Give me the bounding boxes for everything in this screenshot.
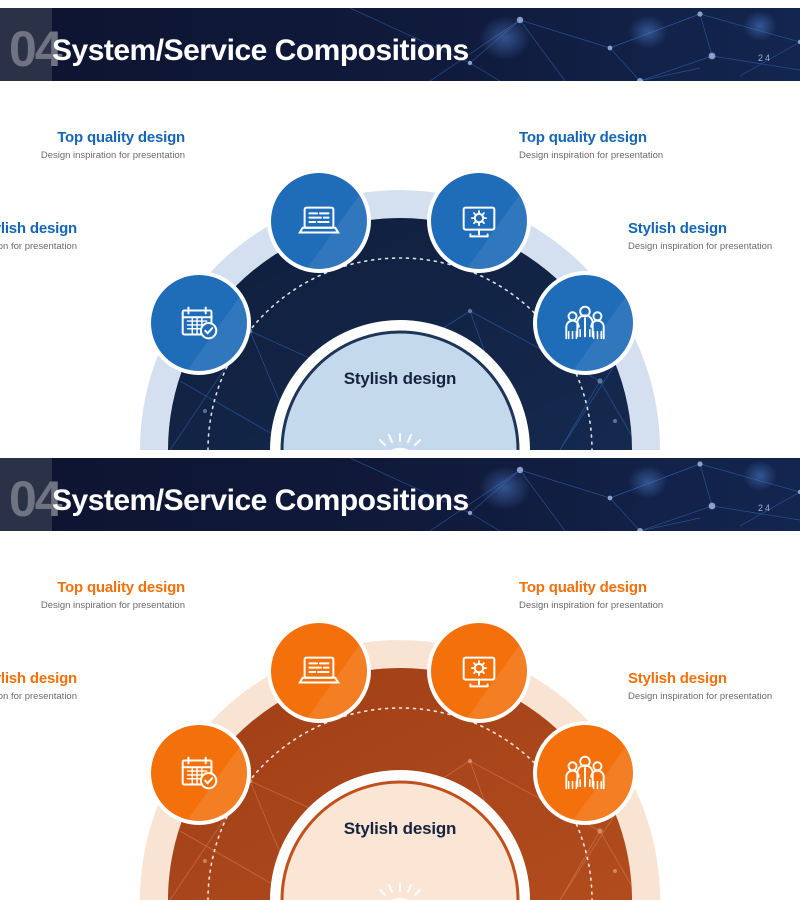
- slide-body-orange: Stylish design: [0, 531, 800, 900]
- node-people-group-orange[interactable]: [533, 721, 637, 825]
- people-group-icon: [562, 750, 608, 796]
- header-page-number: 24: [758, 53, 772, 63]
- header-page-number: 24: [758, 503, 772, 513]
- label-subtitle: Design inspiration for presentation: [519, 150, 724, 163]
- label-subtitle: Design inspiration for presentation: [628, 691, 800, 704]
- calendar-check-icon: [176, 750, 222, 796]
- label-title: Stylish design: [0, 670, 77, 687]
- label-middle-left-blue: Stylish design Design inspiration for pr…: [0, 220, 77, 254]
- slide-body-blue: Stylish design: [0, 81, 800, 450]
- label-subtitle: Design inspiration for presentation: [0, 241, 77, 254]
- label-subtitle: Design inspiration for presentation: [0, 600, 185, 613]
- node-calendar-check-orange[interactable]: [147, 721, 251, 825]
- label-top-right-orange: Top quality design Design inspiration fo…: [519, 579, 724, 613]
- label-top-right-blue: Top quality design Design inspiration fo…: [519, 129, 724, 163]
- label-middle-right-blue: Stylish design Design inspiration for pr…: [628, 220, 800, 254]
- laptop-code-icon: [296, 198, 342, 244]
- label-top-left-orange: Top quality design Design inspiration fo…: [0, 579, 185, 613]
- monitor-gear-icon: [456, 648, 502, 694]
- calendar-check-icon: [176, 300, 222, 346]
- people-group-icon: [562, 300, 608, 346]
- node-laptop-code-orange[interactable]: [267, 619, 371, 723]
- slide-header-blue: 04 System/Service Compositions 24: [0, 8, 800, 81]
- slide-orange: 04 System/Service Compositions 24: [0, 450, 800, 900]
- center-label-blue: Stylish design: [0, 369, 800, 389]
- label-subtitle: Design inspiration for presentation: [0, 691, 77, 704]
- label-title: Top quality design: [519, 129, 724, 146]
- label-subtitle: Design inspiration for presentation: [0, 150, 185, 163]
- label-title: Top quality design: [519, 579, 724, 596]
- label-title: Top quality design: [0, 129, 185, 146]
- node-monitor-gear-orange[interactable]: [427, 619, 531, 723]
- center-label-orange: Stylish design: [0, 819, 800, 839]
- label-middle-right-orange: Stylish design Design inspiration for pr…: [628, 670, 800, 704]
- slide-blue: 04 System/Service Compositions 24: [0, 0, 800, 450]
- node-laptop-code-blue[interactable]: [267, 169, 371, 273]
- label-title: Top quality design: [0, 579, 185, 596]
- node-monitor-gear-blue[interactable]: [427, 169, 531, 273]
- presentation-page: 04 System/Service Compositions 24: [0, 0, 800, 900]
- label-title: Stylish design: [0, 220, 77, 237]
- label-middle-left-orange: Stylish design Design inspiration for pr…: [0, 670, 77, 704]
- laptop-code-icon: [296, 648, 342, 694]
- header-title: System/Service Compositions: [52, 34, 469, 68]
- label-subtitle: Design inspiration for presentation: [519, 600, 724, 613]
- label-title: Stylish design: [628, 220, 800, 237]
- header-title: System/Service Compositions: [52, 484, 469, 518]
- node-people-group-blue[interactable]: [533, 271, 637, 375]
- slide-header-orange: 04 System/Service Compositions 24: [0, 458, 800, 531]
- monitor-gear-icon: [456, 198, 502, 244]
- label-top-left-blue: Top quality design Design inspiration fo…: [0, 129, 185, 163]
- label-title: Stylish design: [628, 670, 800, 687]
- node-calendar-check-blue[interactable]: [147, 271, 251, 375]
- label-subtitle: Design inspiration for presentation: [628, 241, 800, 254]
